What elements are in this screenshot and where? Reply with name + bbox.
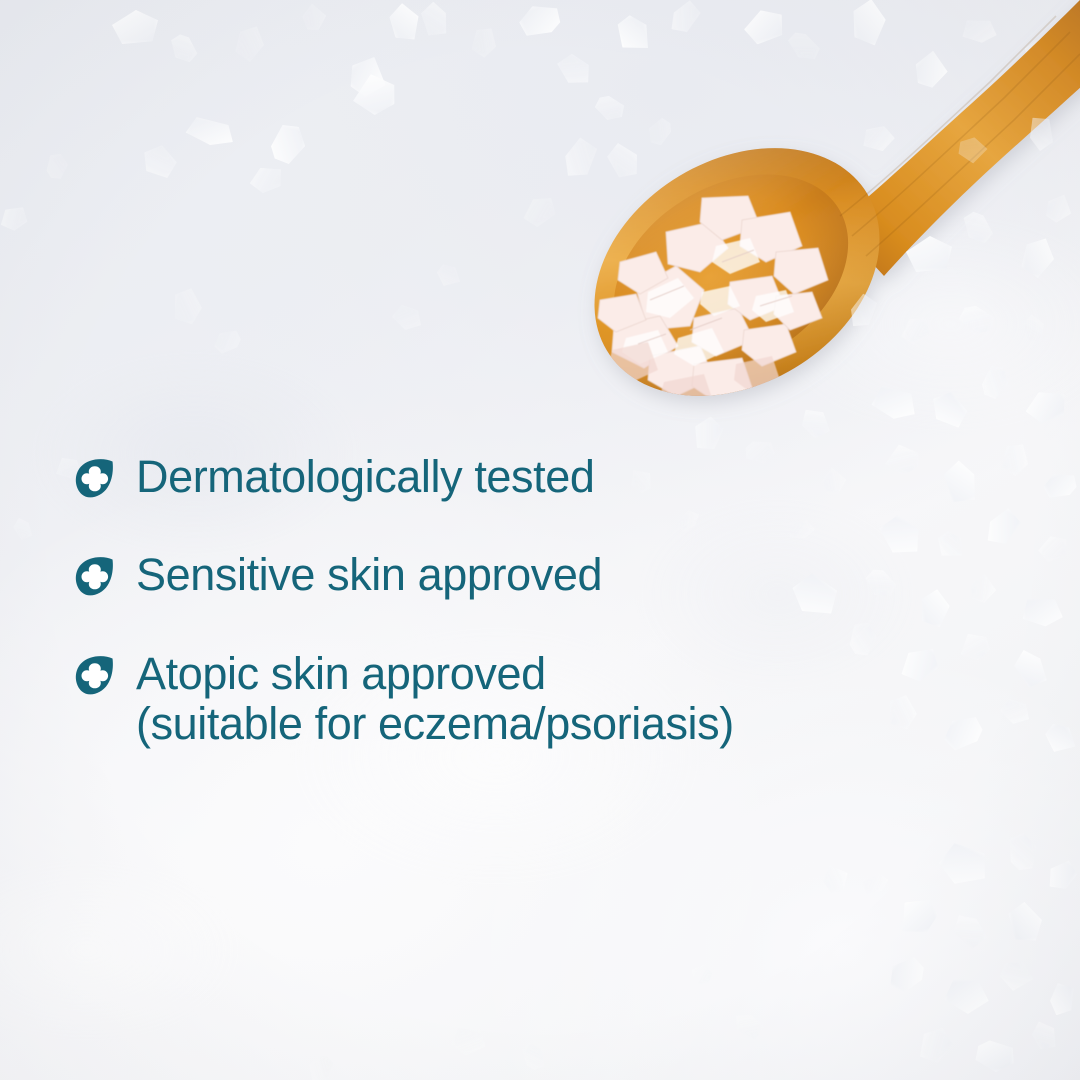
salt-flake [613, 11, 654, 59]
salt-flake [961, 16, 998, 46]
salt-flake [137, 140, 181, 185]
salt-flake [1003, 830, 1043, 875]
salt-flake [998, 698, 1031, 726]
salt-flake [383, 0, 427, 47]
salt-flake [341, 49, 395, 102]
leaf-flower-icon [72, 456, 118, 502]
salt-flake [1040, 466, 1080, 503]
salt-flake [235, 25, 265, 63]
salt-flake [995, 954, 1039, 997]
salt-flake [246, 159, 289, 199]
salt-flake [859, 868, 892, 900]
salt-flake [1007, 900, 1045, 945]
claim-label: Sensitive skin approved [136, 550, 602, 600]
leaf-flower-icon [72, 653, 118, 699]
salt-flake [782, 27, 824, 65]
product-claim-graphic: Dermatologically tested Sensitive skin a… [0, 0, 1080, 1080]
salt-flake [981, 503, 1025, 551]
salt-flake [1018, 312, 1050, 347]
claims-list: Dermatologically tested Sensitive skin a… [72, 452, 952, 750]
salt-flake [686, 412, 727, 455]
salt-flake [741, 5, 788, 46]
salt-flake [0, 200, 32, 237]
salt-flake [415, 0, 455, 42]
salt-flake [973, 1039, 1014, 1072]
salt-flake [1048, 983, 1075, 1016]
salt-flake [795, 403, 836, 442]
salt-flake [956, 206, 998, 249]
salt-flake [934, 838, 994, 895]
salt-flake [560, 135, 600, 181]
salt-flake [469, 24, 502, 60]
salt-flake [172, 287, 203, 325]
salt-flake [1040, 189, 1078, 227]
salt-flake [906, 236, 952, 272]
salt-flake [883, 949, 931, 999]
salt-flake [1021, 237, 1056, 279]
salt-flake [515, 0, 566, 43]
salt-flake [1020, 594, 1064, 631]
salt-flake [947, 909, 994, 954]
salt-flake [685, 961, 717, 991]
salt-flake [955, 301, 998, 338]
claim-item: Dermatologically tested [72, 452, 952, 502]
leaf-flower-icon [72, 554, 118, 600]
salt-flake [1019, 34, 1065, 79]
salt-flake [1041, 718, 1080, 761]
salt-flake [164, 29, 202, 67]
salt-flake [847, 292, 880, 331]
salt-flake [1007, 645, 1055, 693]
salt-flake [604, 138, 645, 182]
salt-flake [998, 440, 1033, 479]
claim-label: Atopic skin approved (suitable for eczem… [136, 649, 734, 750]
salt-flake [848, 0, 890, 49]
salt-flake [731, 1010, 767, 1042]
salt-flake [666, 0, 705, 38]
spoon-salt-flakes [598, 196, 828, 410]
salt-flake [1026, 1017, 1064, 1055]
salt-flake [112, 10, 158, 44]
salt-flake [9, 515, 37, 543]
claim-item: Atopic skin approved (suitable for eczem… [72, 649, 952, 750]
salt-flake [979, 364, 1012, 403]
salt-flake [858, 121, 897, 157]
salt-flake [926, 387, 972, 435]
salt-flake [591, 92, 627, 124]
salt-flake [908, 45, 955, 93]
salt-flake [390, 304, 423, 332]
salt-flake [1035, 533, 1070, 564]
salt-flake [954, 133, 991, 168]
salt-flake [45, 153, 68, 180]
salt-flake [306, 1051, 337, 1080]
salt-flake [645, 114, 676, 148]
salt-flake [870, 383, 918, 423]
salt-flake [821, 862, 848, 894]
salt-flake [1043, 855, 1080, 896]
salt-flake [552, 50, 596, 90]
salt-flake [958, 634, 990, 661]
salt-flake [1024, 113, 1059, 153]
claim-label: Dermatologically tested [136, 452, 595, 502]
salt-flake [896, 312, 934, 348]
salt-flake [964, 569, 1001, 607]
salt-flake [433, 260, 464, 293]
salt-flake [517, 1039, 551, 1074]
salt-flake [518, 191, 560, 231]
salt-flake [1021, 381, 1073, 430]
salt-flake [942, 976, 990, 1016]
salt-flake [348, 71, 401, 120]
salt-flake [184, 115, 235, 149]
salt-flake [450, 1025, 488, 1058]
salt-flake [893, 895, 942, 938]
salt-flake [267, 122, 309, 168]
salt-flake [210, 324, 246, 359]
salt-flake [299, 0, 330, 34]
claim-item: Sensitive skin approved [72, 550, 952, 600]
salt-flake [911, 1022, 958, 1069]
